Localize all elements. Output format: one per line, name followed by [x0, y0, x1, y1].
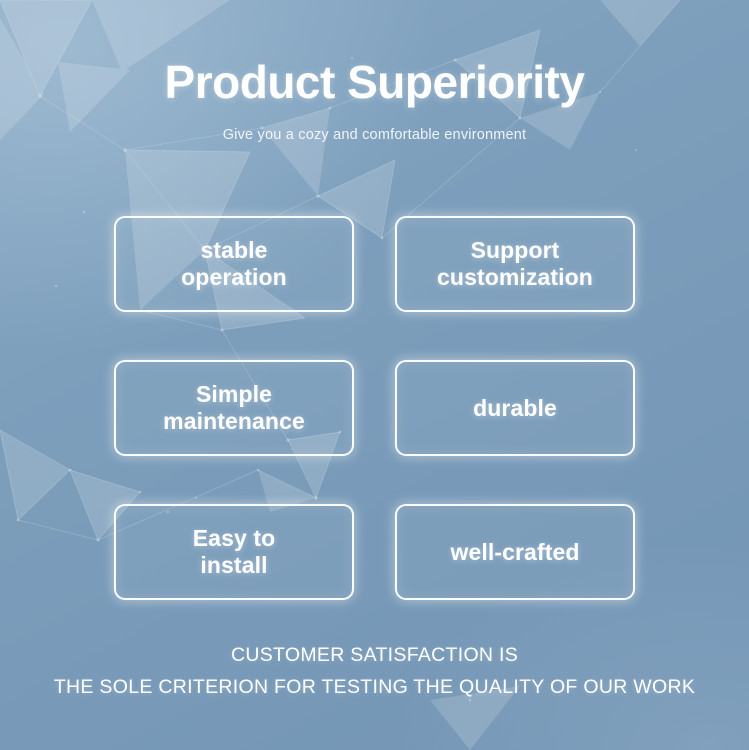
feature-card-label: stable operation [171, 237, 297, 290]
footer-slogan: CUSTOMER SATISFACTION IS THE SOLE CRITER… [0, 640, 749, 703]
feature-card-stable-operation[interactable]: stable operation [114, 216, 354, 312]
feature-card-well-crafted[interactable]: well-crafted [395, 504, 635, 600]
feature-card-label: well-crafted [440, 539, 589, 566]
feature-card-label: Support customization [427, 237, 603, 290]
feature-card-grid: stable operation Support customization S… [114, 216, 635, 600]
page-title: Product Superiority [0, 58, 749, 106]
feature-card-easy-to-install[interactable]: Easy to install [114, 504, 354, 600]
feature-card-label: Easy to install [183, 525, 286, 578]
footer-slogan-line-1: CUSTOMER SATISFACTION IS [0, 640, 749, 672]
page-subtitle: Give you a cozy and comfortable environm… [0, 127, 749, 144]
feature-card-durable[interactable]: durable [395, 360, 635, 456]
footer-slogan-line-2: THE SOLE CRITERION FOR TESTING THE QUALI… [0, 672, 749, 704]
feature-card-support-customization[interactable]: Support customization [395, 216, 635, 312]
feature-card-simple-maintenance[interactable]: Simple maintenance [114, 360, 354, 456]
feature-card-label: Simple maintenance [153, 381, 315, 434]
poster: Product Superiority Give you a cozy and … [0, 0, 749, 750]
feature-card-label: durable [463, 395, 567, 422]
header: Product Superiority Give you a cozy and … [0, 58, 749, 145]
